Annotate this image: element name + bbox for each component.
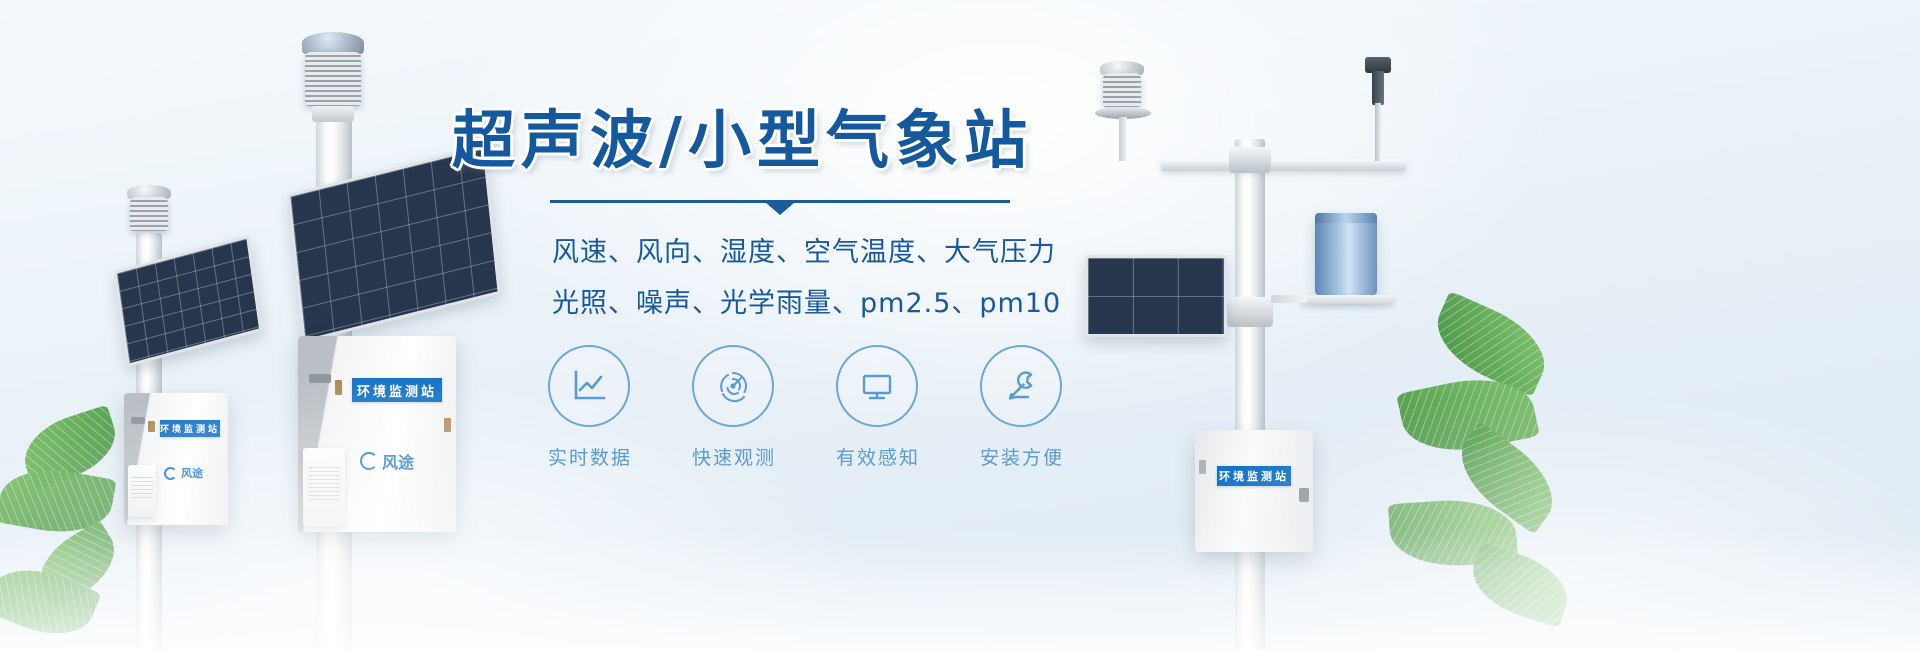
center-cabinet-hinge-top — [335, 380, 342, 395]
left-station-brand: 风途 — [164, 465, 203, 481]
feature-ring — [548, 345, 630, 427]
center-cabinet: 环境监测站 风途 — [298, 336, 456, 532]
wrench-icon — [999, 364, 1043, 408]
center-sensor-stack — [305, 52, 361, 106]
radar-signal-icon — [711, 364, 755, 408]
center-brand-label: 风途 — [382, 449, 414, 473]
right-cabinet-latch — [1299, 488, 1309, 502]
rain-gauge — [1315, 213, 1377, 295]
feature-ring — [836, 345, 918, 427]
feature-label: 有效感知 — [836, 443, 918, 470]
center-station-brand: 风途 — [360, 449, 414, 473]
right-cabinet-hinge — [1199, 460, 1206, 474]
right-cabinet: 环境监测站 — [1195, 430, 1313, 552]
feature-list: 实时数据 快速观测 — [548, 345, 1062, 470]
feature-fast-observation[interactable]: 快速观测 — [692, 345, 774, 470]
right-mast-collar-lower — [1227, 297, 1273, 327]
left-cabinet-vent — [131, 417, 145, 424]
feature-easy-installation[interactable]: 安装方便 — [980, 345, 1062, 470]
wind-vane-body — [1372, 71, 1384, 105]
center-sensor-cap — [302, 32, 364, 54]
leaf-right-5 — [1463, 542, 1576, 628]
line-chart-icon — [567, 364, 611, 408]
center-cabinet-vent — [309, 374, 331, 383]
right-station-tag: 环境监测站 — [1217, 466, 1291, 486]
feature-effective-sensing[interactable]: 有效感知 — [836, 345, 918, 470]
monitor-icon — [855, 364, 899, 408]
left-small-station: 环境监测站 风途 — [100, 175, 290, 650]
right-crossarm — [1161, 159, 1406, 171]
banner-copy: 超声波/小型气象站 风速、风向、湿度、空气温度、大气压力 光照、噪声、光学雨量、… — [452, 104, 1124, 320]
page-title: 超声波/小型气象站 — [452, 104, 1124, 177]
feature-realtime-data[interactable]: 实时数据 — [548, 345, 630, 470]
left-sensor-stack — [130, 197, 168, 231]
product-banner: 环境监测站 风途 环境监测站 风途 — [0, 0, 1920, 650]
chevron-down-icon — [765, 202, 795, 215]
right-mast-collar — [1229, 147, 1271, 173]
feature-ring — [980, 345, 1062, 427]
left-cabinet: 环境监测站 风途 — [124, 393, 228, 525]
right-mast-pole — [1235, 139, 1265, 650]
left-brand-label: 风途 — [181, 465, 203, 481]
rain-gauge-shelf — [1301, 295, 1393, 304]
rain-gauge-bracket — [1271, 295, 1307, 303]
left-cabinet-hinge-top — [148, 421, 155, 432]
subtitle-line-1: 风速、风向、湿度、空气温度、大气压力 — [452, 230, 1124, 269]
feature-label: 安装方便 — [980, 443, 1062, 470]
feature-ring — [692, 345, 774, 427]
feature-label: 快速观测 — [692, 443, 774, 470]
wind-vane-mast — [1375, 103, 1381, 161]
title-divider — [550, 200, 1010, 214]
center-cabinet-lower-box — [303, 448, 345, 526]
feature-label: 实时数据 — [548, 443, 630, 470]
brand-mark-icon — [360, 452, 378, 470]
ultrasonic-sensor-stack — [1103, 73, 1141, 107]
center-sensor-base — [312, 106, 354, 122]
brand-mark-icon — [164, 467, 177, 480]
right-mast-station: 环境监测站 — [1075, 55, 1405, 650]
center-cabinet-latch — [444, 418, 451, 432]
subtitle-line-2: 光照、噪声、光学雨量、pm2.5、pm10 — [452, 281, 1124, 320]
left-cabinet-lower-box — [128, 465, 156, 517]
left-station-tag: 环境监测站 — [160, 420, 220, 437]
center-station-tag: 环境监测站 — [352, 378, 442, 402]
